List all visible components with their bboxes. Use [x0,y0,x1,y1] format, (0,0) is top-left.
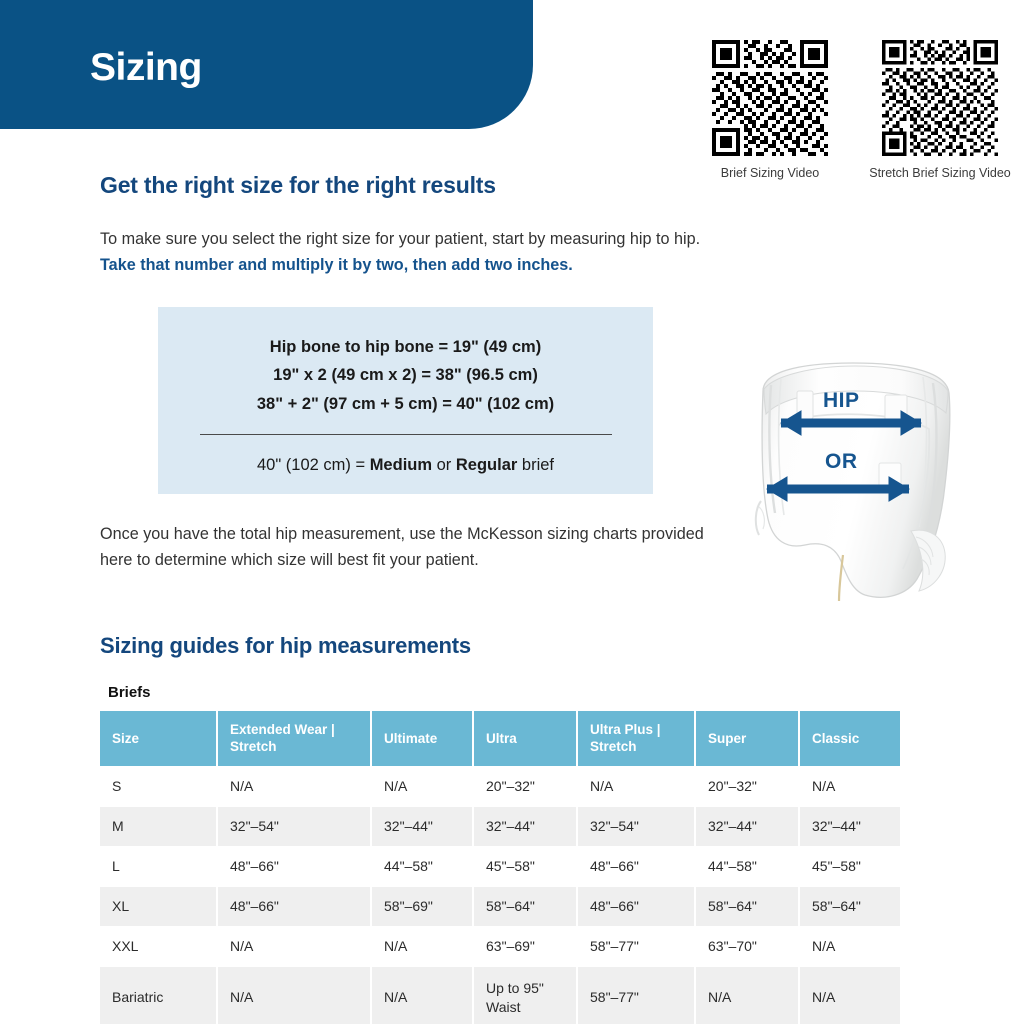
section-heading-sizing-guides: Sizing guides for hip measurements [100,633,471,659]
column-header-size: Size [100,711,218,766]
hip-label: HIP [823,389,860,413]
table-title-briefs: Briefs [108,684,151,701]
intro-plain-text: To make sure you select the right size f… [100,230,700,248]
outro-paragraph: Once you have the total hip measurement,… [100,521,710,573]
cell-super: 44"–58" [696,846,800,887]
cell-super: 20"–32" [696,766,800,807]
cell-ultimate: 32"–44" [372,807,474,846]
header-banner: Sizing [0,0,533,129]
cell-extended-wear: 32"–54" [218,807,372,846]
cell-ultimate: 44"–58" [372,846,474,887]
cell-super: 32"–44" [696,807,800,846]
calc-line-2: 19" x 2 (49 cm x 2) = 38" (96.5 cm) [158,361,653,389]
cell-classic: 32"–44" [800,807,900,846]
cell-ultimate: N/A [372,926,474,967]
cell-extended-wear: 48"–66" [218,846,372,887]
qr-block-stretch-brief-sizing-video[interactable]: Stretch Brief Sizing Video [850,40,1024,181]
column-header-ultimate: Ultimate [372,711,474,766]
column-header-ultra-plus: Ultra Plus | Stretch [578,711,696,766]
cell-ultimate: 58"–69" [372,887,474,926]
cell-extended-wear: N/A [218,926,372,967]
calc-result-suffix: brief [517,456,554,474]
cell-classic: N/A [800,967,900,1024]
cell-ultimate: N/A [372,766,474,807]
calc-result-line: 40" (102 cm) = Medium or Regular brief [158,456,653,475]
cell-classic: 45"–58" [800,846,900,887]
table-header-row: Size Extended Wear | Stretch Ultimate Ul… [100,711,900,766]
cell-ultra-plus: 58"–77" [578,926,696,967]
product-illustration: HIP OR [735,355,980,605]
calc-result-size-medium: Medium [370,456,432,474]
table-body: S N/A N/A 20"–32" N/A 20"–32" N/A M 32"–… [100,766,900,1024]
cell-ultra-plus: N/A [578,766,696,807]
column-header-super: Super [696,711,800,766]
cell-ultra: 58"–64" [474,887,578,926]
column-header-classic: Classic [800,711,900,766]
sizing-guide-page: Sizing [0,0,1024,1024]
qr-caption: Stretch Brief Sizing Video [850,165,1024,181]
cell-size: M [100,807,218,846]
cell-super: 63"–70" [696,926,800,967]
qr-code-icon [712,40,828,156]
cell-super: N/A [696,967,800,1024]
cell-size: Bariatric [100,967,218,1024]
calc-result-conjunction: or [432,456,456,474]
intro-paragraph: To make sure you select the right size f… [100,226,740,278]
cell-ultra-plus: 48"–66" [578,887,696,926]
column-header-ultra: Ultra [474,711,578,766]
calc-result-prefix: 40" (102 cm) = [257,456,370,474]
cell-ultra: 20"–32" [474,766,578,807]
cell-ultra-plus: 58"–77" [578,967,696,1024]
calc-divider [200,434,612,435]
cell-ultra-plus: 48"–66" [578,846,696,887]
cell-classic: N/A [800,926,900,967]
table-header: Size Extended Wear | Stretch Ultimate Ul… [100,711,900,766]
cell-ultra: Up to 95" Waist [474,967,578,1024]
cell-classic: 58"–64" [800,887,900,926]
table-row: Bariatric N/A N/A Up to 95" Waist 58"–77… [100,967,900,1024]
cell-size: XL [100,887,218,926]
calc-line-3: 38" + 2" (97 cm + 5 cm) = 40" (102 cm) [158,390,653,418]
calc-line-1: Hip bone to hip bone = 19" (49 cm) [158,333,653,361]
qr-block-brief-sizing-video[interactable]: Brief Sizing Video [680,40,860,181]
qr-code-icon [882,40,998,156]
table-row: M 32"–54" 32"–44" 32"–44" 32"–54" 32"–44… [100,807,900,846]
cell-ultra: 32"–44" [474,807,578,846]
briefs-sizing-table: Size Extended Wear | Stretch Ultimate Ul… [100,711,900,1024]
cell-ultimate: N/A [372,967,474,1024]
cell-ultra: 63"–69" [474,926,578,967]
cell-extended-wear: N/A [218,766,372,807]
cell-ultra: 45"–58" [474,846,578,887]
section-heading-get-right-size: Get the right size for the right results [100,172,496,199]
cell-super: 58"–64" [696,887,800,926]
cell-size: S [100,766,218,807]
cell-size: L [100,846,218,887]
or-label: OR [825,450,858,474]
page-title: Sizing [90,46,202,90]
intro-emphasis-text: Take that number and multiply it by two,… [100,256,573,274]
qr-caption: Brief Sizing Video [680,165,860,181]
cell-classic: N/A [800,766,900,807]
table-row: XXL N/A N/A 63"–69" 58"–77" 63"–70" N/A [100,926,900,967]
cell-size: XXL [100,926,218,967]
calculation-example-box: Hip bone to hip bone = 19" (49 cm) 19" x… [158,307,653,494]
table-row: XL 48"–66" 58"–69" 58"–64" 48"–66" 58"–6… [100,887,900,926]
cell-extended-wear: 48"–66" [218,887,372,926]
cell-extended-wear: N/A [218,967,372,1024]
column-header-extended-wear: Extended Wear | Stretch [218,711,372,766]
cell-ultra-plus: 32"–54" [578,807,696,846]
table-row: L 48"–66" 44"–58" 45"–58" 48"–66" 44"–58… [100,846,900,887]
calc-result-size-regular: Regular [456,456,517,474]
table-row: S N/A N/A 20"–32" N/A 20"–32" N/A [100,766,900,807]
